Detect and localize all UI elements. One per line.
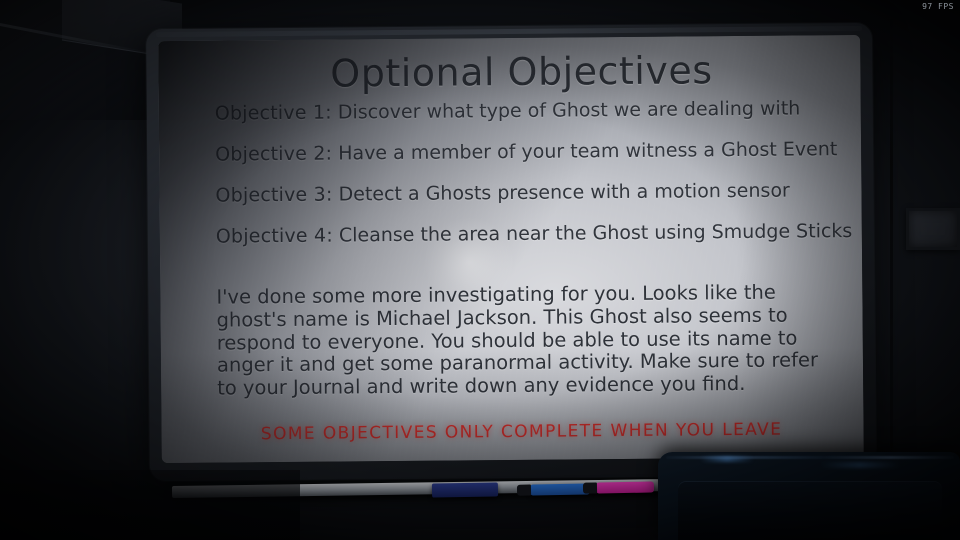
whiteboard-surface: Optional Objectives Objective 1: Discove… [158,35,864,463]
objective-item-1: Objective 1: Discover what type of Ghost… [215,99,835,123]
whiteboard-frame: Optional Objectives Objective 1: Discove… [146,23,876,481]
objective-text-2: Have a member of your team witness a Gho… [338,138,837,164]
objective-item-3: Objective 3: Detect a Ghosts presence wi… [215,181,835,205]
objective-text-1: Discover what type of Ghost we are deali… [338,97,801,123]
objective-text-3: Detect a Ghosts presence with a motion s… [338,180,789,206]
objective-list: Objective 1: Discover what type of Ghost… [215,99,836,246]
foreground-highlight-secondary [820,462,900,468]
objective-label-3: Objective 3: [215,184,332,207]
game-scene: Optional Objectives Objective 1: Discove… [0,0,960,540]
tray-item-blue-marker[interactable] [530,483,590,495]
floor-shadow [0,470,300,540]
objective-item-2: Objective 2: Have a member of your team … [215,140,835,164]
ghost-info-note: I've done some more investigating for yo… [216,281,837,400]
tray-item-eraser[interactable] [432,482,498,497]
foreground-highlight [700,456,754,462]
objective-item-4: Objective 4: Cleanse the area near the G… [216,222,836,246]
tray-item-pink-marker[interactable] [596,481,654,493]
foreground-vehicle [658,452,960,540]
fps-counter: 97 FPS [922,2,954,11]
objective-label-4: Objective 4: [216,225,333,248]
objective-label-2: Objective 2: [215,143,332,166]
whiteboard-title: Optional Objectives [208,47,834,96]
objective-text-4: Cleanse the area near the Ghost using Sm… [339,220,853,246]
wall-panel [906,208,960,250]
whiteboard-content: Optional Objectives Objective 1: Discove… [158,35,864,463]
objective-label-1: Objective 1: [215,102,332,125]
